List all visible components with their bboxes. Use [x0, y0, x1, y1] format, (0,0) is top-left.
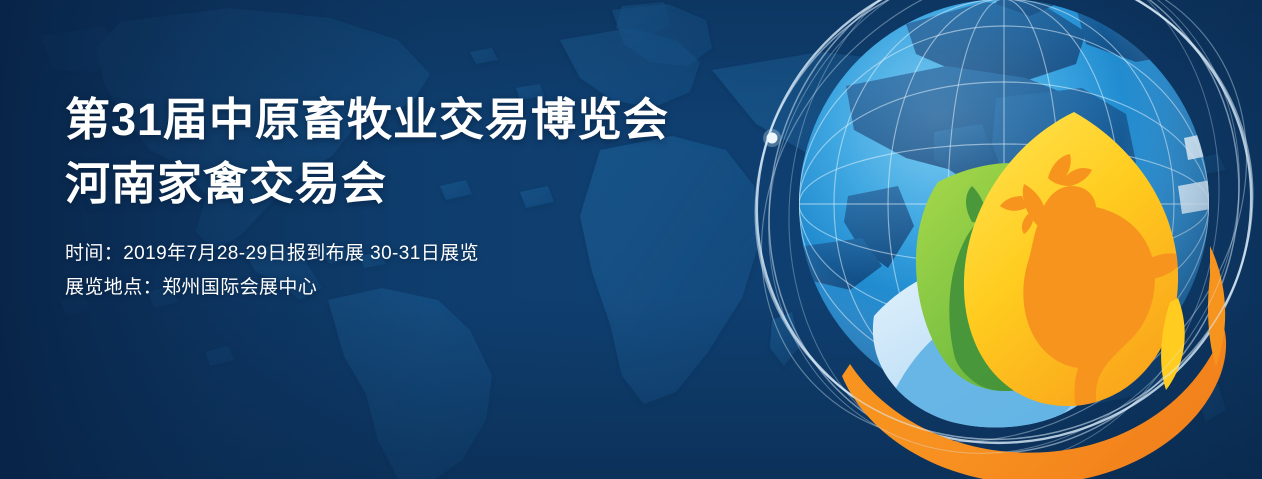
orbit-node-dot-secondary — [763, 129, 781, 147]
page-title-line-1: 第31届中原畜牧业交易博览会 — [65, 88, 765, 152]
event-venue-line: 展览地点：郑州国际会展中心 — [65, 271, 765, 305]
exhibition-banner: 第31届中原畜牧业交易博览会 河南家禽交易会 时间：2019年7月28-29日报… — [0, 0, 1262, 479]
event-date-line: 时间：2019年7月28-29日报到布展 30-31日展览 — [65, 237, 765, 271]
banner-text-block: 第31届中原畜牧业交易博览会 河南家禽交易会 时间：2019年7月28-29日报… — [65, 88, 765, 304]
globe-livestock-logo — [786, 0, 1256, 479]
page-title-line-2: 河南家禽交易会 — [65, 152, 765, 216]
banner-subtitle-group: 时间：2019年7月28-29日报到布展 30-31日展览 展览地点：郑州国际会… — [65, 237, 765, 305]
